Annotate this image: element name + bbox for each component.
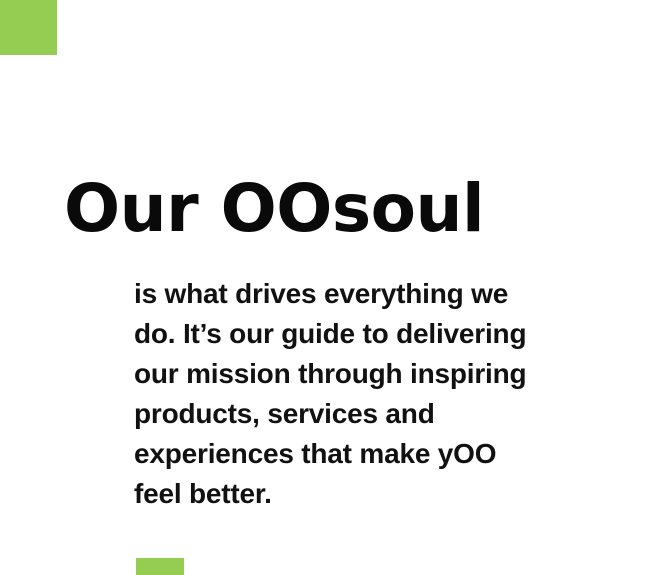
page-title: Our OOsoul xyxy=(64,173,484,245)
accent-bar-bottom xyxy=(136,558,184,575)
body-line-6: feel better. xyxy=(134,474,660,514)
body-line-2: do. It’s our guide to delivering xyxy=(134,314,660,354)
accent-square-top-left xyxy=(0,0,57,55)
body-line-5: experiences that make yOO xyxy=(134,434,660,474)
body-line-3: our mission through inspiring xyxy=(134,354,660,394)
body-paragraph: is what drives everything we do. It’s ou… xyxy=(134,274,660,514)
body-line-4: products, services and xyxy=(134,394,660,434)
body-line-1: is what drives everything we xyxy=(134,274,660,314)
brand-statement-page: Our OOsoul is what drives everything we … xyxy=(0,0,660,575)
